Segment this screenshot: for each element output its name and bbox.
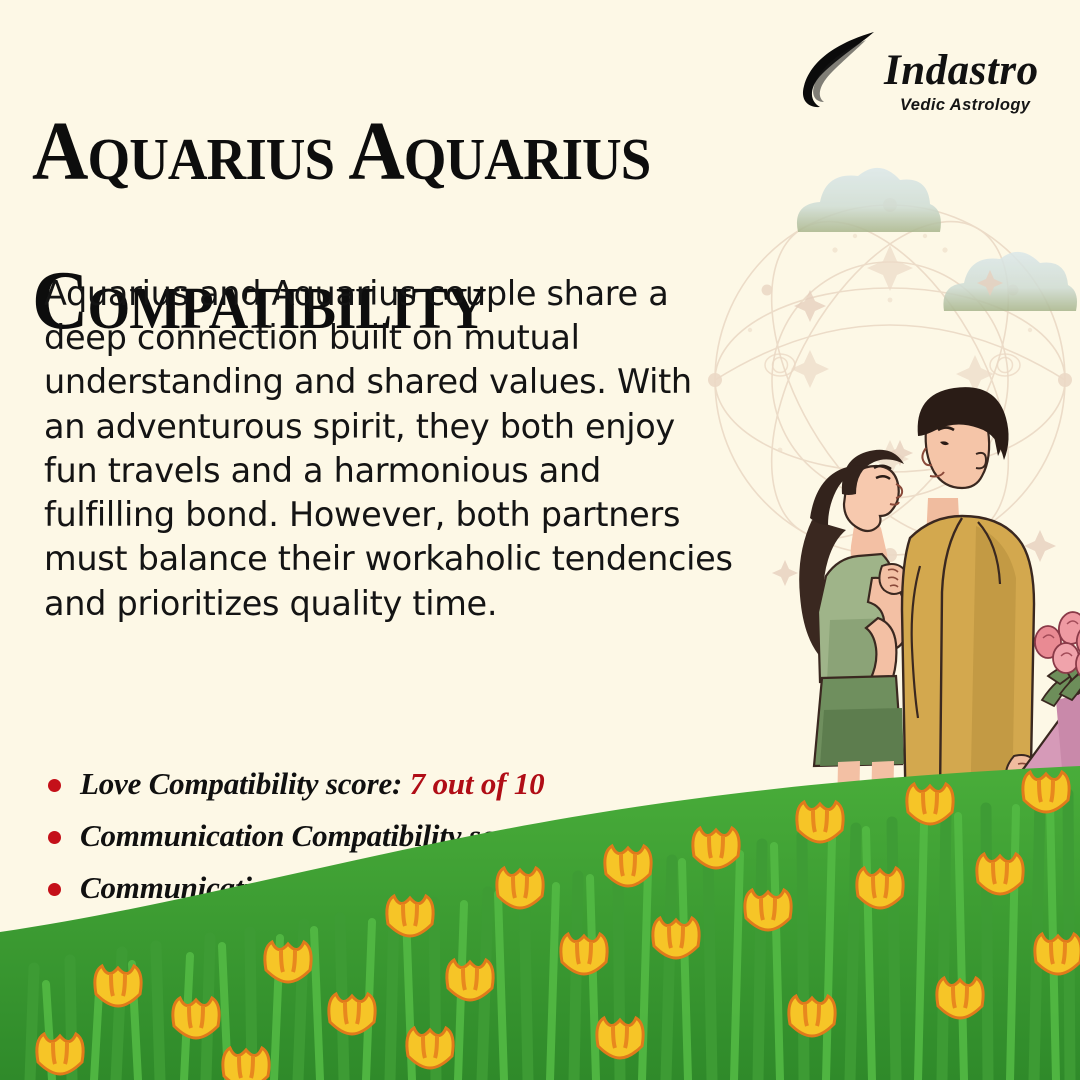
cloud-icon [786,160,944,246]
brand-tagline: Vedic Astrology [900,96,1030,115]
cloud-icon [936,245,1080,325]
brand-logo: Indastro Vedic Astrology [800,24,1062,116]
page-title-line1: Aquarius Aquarius [32,113,748,190]
tulip-field [0,750,1080,1080]
brand-name: Indastro [884,46,1039,95]
description-paragraph: Aquarius and Aquarius couple share a dee… [44,272,734,626]
infographic-canvas: Indastro Vedic Astrology Aquarius Aquari… [0,0,1080,1080]
crescent-moon-icon [800,30,886,110]
